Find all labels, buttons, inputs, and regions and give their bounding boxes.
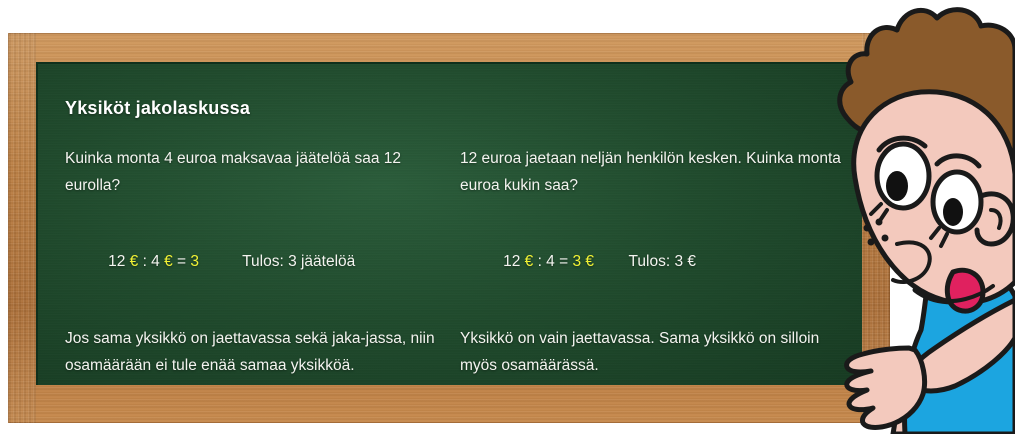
boy-eyelash-right xyxy=(931,228,947,246)
boy-nose xyxy=(893,242,930,282)
boy-arm xyxy=(893,345,1015,434)
left-eq-part-1: 12 xyxy=(108,253,130,270)
board-column-right: 12 euroa jaetaan neljän henkilön kesken.… xyxy=(460,145,852,385)
left-eq-currency-1: € xyxy=(130,253,139,270)
boy-shirt xyxy=(905,250,1015,434)
right-question: 12 euroa jaetaan neljän henkilön kesken.… xyxy=(460,145,852,199)
right-eq-gap xyxy=(594,253,628,270)
frame-grain-right xyxy=(862,33,890,423)
boy-mouth xyxy=(915,290,981,302)
board-columns: Kuinka monta 4 euroa maksavaa jäätelöä s… xyxy=(65,145,862,385)
boy-pupil-right xyxy=(943,198,963,226)
boy-tongue xyxy=(947,270,983,311)
left-eq-currency-2: € xyxy=(164,253,173,270)
right-eq-answer: 3 € xyxy=(572,253,594,270)
left-explanation: Jos sama yksikkö on jaettavassa sekä jak… xyxy=(65,325,457,379)
boy-eyebrow-right xyxy=(937,156,979,166)
left-eq-gap xyxy=(199,253,242,270)
left-question: Kuinka monta 4 euroa maksavaa jäätelöä s… xyxy=(65,145,457,199)
boy-ear xyxy=(977,194,1013,244)
boy-eye-right xyxy=(933,172,981,232)
chalkboard-surface: Yksiköt jakolaskussa Kuinka monta 4 euro… xyxy=(36,62,862,385)
left-eq-result-label: Tulos: 3 jäätelöä xyxy=(242,248,355,275)
right-eq-part-2: : 4 = xyxy=(533,253,572,270)
boy-ear-inner xyxy=(991,210,1001,228)
board-column-left: Kuinka monta 4 euroa maksavaa jäätelöä s… xyxy=(65,145,457,385)
left-eq-part-3: = xyxy=(173,253,191,270)
right-eq-result-label: Tulos: 3 € xyxy=(629,248,697,275)
left-eq-answer: 3 xyxy=(190,253,199,270)
boy-forearm xyxy=(905,300,1015,391)
left-eq-part-2: : 4 xyxy=(138,253,164,270)
boy-chin xyxy=(935,286,993,301)
frame-grain-left xyxy=(8,33,36,423)
right-eq-part-1: 12 xyxy=(503,253,525,270)
right-equation: 12 € : 4 = 3 € Tulos: 3 € xyxy=(460,221,852,302)
left-equation: 12 € : 4 € = 3 Tulos: 3 jäätelöä xyxy=(65,221,457,302)
right-explanation: Yksikkö on vain jaettavassa. Sama yksikk… xyxy=(460,325,852,379)
right-eq-currency-1: € xyxy=(525,253,534,270)
chalkboard-frame: Yksiköt jakolaskussa Kuinka monta 4 euro… xyxy=(8,33,890,423)
board-title: Yksiköt jakolaskussa xyxy=(65,98,862,119)
